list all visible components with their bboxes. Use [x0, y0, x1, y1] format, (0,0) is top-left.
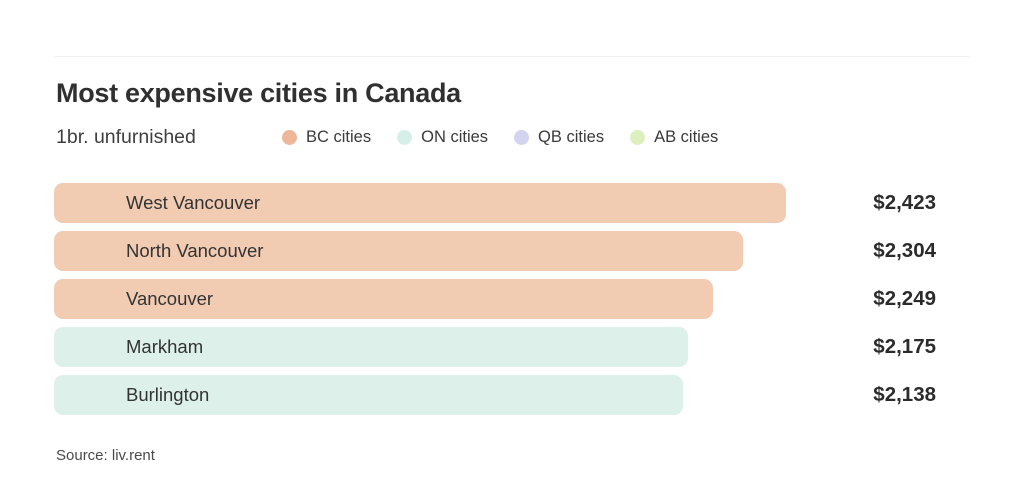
bar-value-label: $2,304 — [800, 231, 936, 271]
legend-item-qb-cities[interactable]: QB cities — [514, 124, 604, 150]
bar-value-label: $2,249 — [800, 279, 936, 319]
chart-subtitle: 1br. unfurnished — [56, 124, 196, 150]
header-divider — [54, 56, 970, 57]
legend-swatch-icon — [630, 130, 645, 145]
bar-value-label: $2,175 — [800, 327, 936, 367]
bar-row[interactable]: West Vancouver $2,423 — [0, 183, 1024, 223]
legend-item-ab-cities[interactable]: AB cities — [630, 124, 718, 150]
legend-label: BC cities — [306, 124, 371, 150]
chart-header-row: 1br. unfurnished BC cities ON cities QB … — [56, 124, 976, 150]
bar-row[interactable]: Markham $2,175 — [0, 327, 1024, 367]
bar-row[interactable]: North Vancouver $2,304 — [0, 231, 1024, 271]
source-attribution: Source: liv.rent — [56, 447, 155, 464]
legend-item-on-cities[interactable]: ON cities — [397, 124, 488, 150]
legend-label: QB cities — [538, 124, 604, 150]
bar-value-label: $2,423 — [800, 183, 936, 223]
bar-row[interactable]: Burlington $2,138 — [0, 375, 1024, 415]
legend-item-bc-cities[interactable]: BC cities — [282, 124, 371, 150]
bar-category-label: Vancouver — [126, 279, 213, 319]
chart-legend: BC cities ON cities QB cities AB cities — [282, 124, 718, 150]
bar-category-label: West Vancouver — [126, 183, 260, 223]
bar-row[interactable]: Vancouver $2,249 — [0, 279, 1024, 319]
legend-label: AB cities — [654, 124, 718, 150]
bar-chart-plot: West Vancouver $2,423 North Vancouver $2… — [0, 183, 1024, 423]
legend-swatch-icon — [397, 130, 412, 145]
legend-swatch-icon — [282, 130, 297, 145]
bar-category-label: Burlington — [126, 375, 209, 415]
bar-value-label: $2,138 — [800, 375, 936, 415]
chart-card: Most expensive cities in Canada 1br. unf… — [0, 0, 1024, 490]
page-title: Most expensive cities in Canada — [56, 76, 461, 110]
bar-category-label: North Vancouver — [126, 231, 263, 271]
bar-category-label: Markham — [126, 327, 203, 367]
legend-swatch-icon — [514, 130, 529, 145]
legend-label: ON cities — [421, 124, 488, 150]
